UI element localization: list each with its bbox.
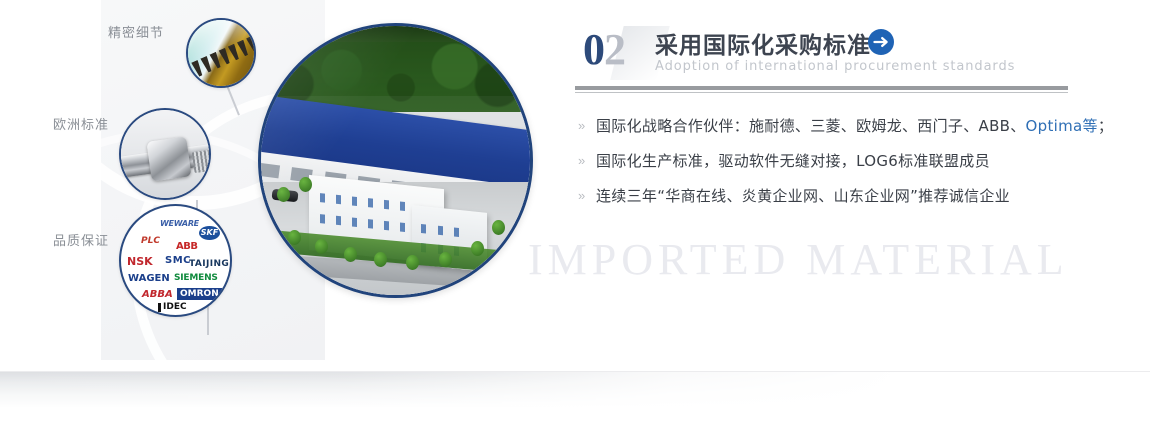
list-item: » 国际化生产标准，驱动软件无缝对接，LOG6标准联盟成员: [578, 151, 1083, 171]
page-subtitle: Adoption of international procurement st…: [655, 59, 1015, 74]
bottom-shadow-band: [0, 372, 1150, 408]
section-number-second: 2: [604, 25, 625, 74]
label-precision-detail: 精密细节: [108, 22, 164, 41]
precision-detail-photo-circle: [186, 18, 256, 88]
promo-banner: 精密细节 欧洲标准 品质保证 WEWARE SKF PLC ABB NSK SM…: [0, 0, 1150, 430]
brand-logo-siemens: SIEMENS: [174, 273, 218, 283]
brand-logo-skf: SKF: [199, 226, 220, 240]
brand-logo-plc: PLC: [141, 236, 160, 246]
list-item-text: 国际化生产标准，驱动软件无缝对接，LOG6标准联盟成员: [596, 151, 990, 171]
chevron-right-icon: »: [578, 151, 596, 171]
european-standard-photo-circle: [119, 108, 211, 200]
content-column: 02 采用国际化采购标准 Adoption of international p…: [575, 18, 1085, 88]
label-quality-assurance: 品质保证: [53, 230, 109, 249]
chevron-right-icon: »: [578, 116, 596, 136]
brand-logo-smc: SMC: [165, 255, 191, 266]
list-item: » 国际化战略合作伙伴：施耐德、三菱、欧姆龙、西门子、ABB、Optima等；: [578, 116, 1083, 136]
brand-logo-wagen: WAGEN: [128, 273, 170, 284]
watermark-text: IMPORTED MATERIAL: [528, 234, 1069, 285]
brand-logo-taijing: TAIJING: [189, 259, 229, 269]
brand-logo-omron: OMRON: [177, 288, 222, 300]
section-header: 02 采用国际化采购标准 Adoption of international p…: [575, 18, 1085, 88]
section-number: 02: [583, 24, 625, 75]
header-divider: [575, 86, 1068, 93]
chevron-right-icon: »: [578, 186, 596, 206]
brand-logos-circle: WEWARE SKF PLC ABB NSK SMC TAIJING WAGEN…: [119, 204, 232, 317]
brand-logo-neware: WEWARE: [160, 219, 199, 228]
arrow-right-circle-icon[interactable]: [867, 28, 895, 56]
list-item-text: 连续三年“华商在线、炎黄企业网、山东企业网”推荐诚信企业: [596, 186, 1010, 206]
ballscrew-nut: [146, 136, 191, 181]
list-item-highlight: Optima等: [1026, 117, 1098, 135]
list-item-text-main: 国际化战略合作伙伴：施耐德、三菱、欧姆龙、西门子、ABB、: [596, 117, 1026, 135]
page-title: 采用国际化采购标准: [655, 26, 871, 60]
factory-photo-circle: [258, 23, 533, 298]
brand-logo-nsk: NSK: [127, 255, 153, 268]
brand-logo-idec: IDEC: [163, 302, 187, 312]
feature-list: » 国际化战略合作伙伴：施耐德、三菱、欧姆龙、西门子、ABB、Optima等； …: [578, 116, 1083, 221]
list-item: » 连续三年“华商在线、炎黄企业网、山东企业网”推荐诚信企业: [578, 186, 1083, 206]
factory-aerial-photo: [261, 26, 530, 295]
list-item-text: 国际化战略合作伙伴：施耐德、三菱、欧姆龙、西门子、ABB、Optima等；: [596, 116, 1113, 136]
label-european-standard: 欧洲标准: [53, 114, 109, 133]
brand-logo-abb: ABB: [176, 241, 197, 252]
section-number-first: 0: [583, 25, 604, 74]
ballscrew-thread: [192, 148, 211, 173]
brand-logo-abba: ABBA: [142, 289, 173, 300]
list-item-text-tail: ；: [1098, 117, 1113, 135]
